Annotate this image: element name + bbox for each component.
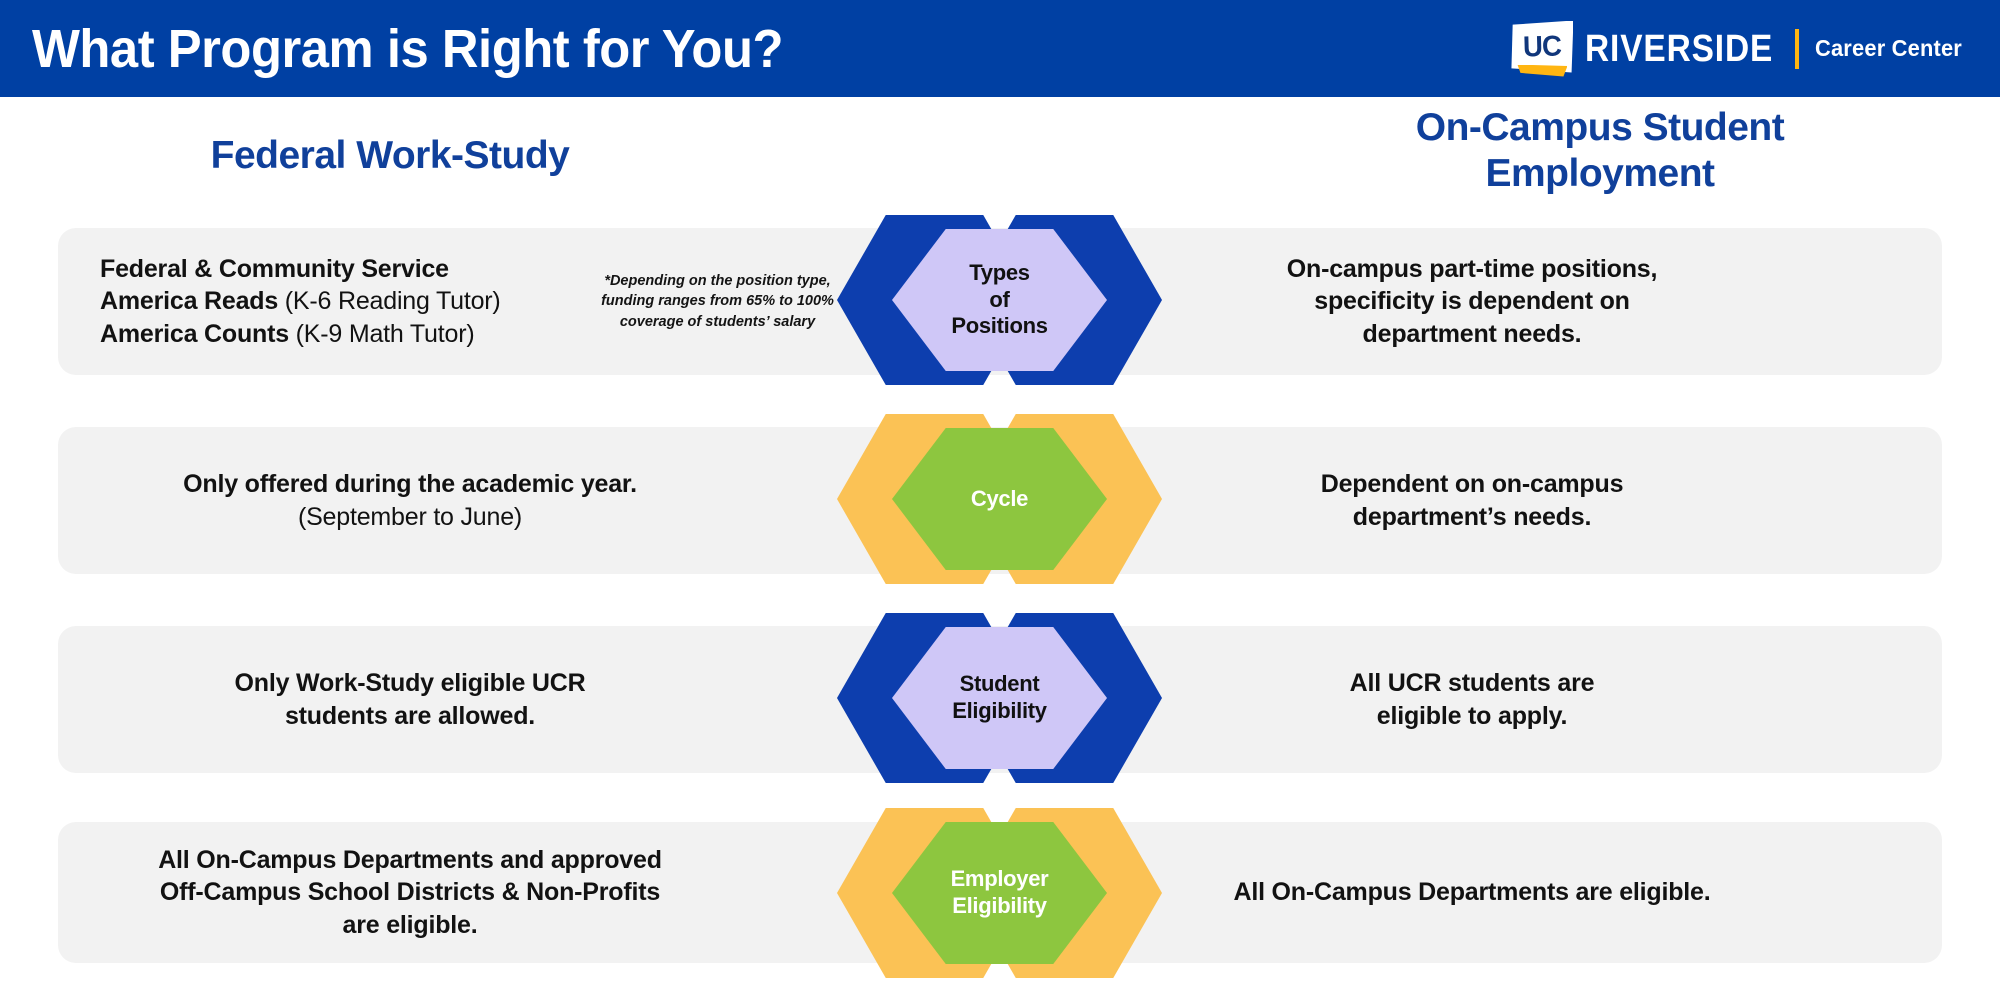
cell-text-line: department’s needs.	[1353, 501, 1591, 534]
badge-label: Cycle	[892, 428, 1107, 570]
right-heading-line-2: Employment	[1240, 151, 1960, 197]
cell-text-line: students are allowed.	[285, 700, 535, 733]
cell-text-line: Dependent on on-campus	[1321, 468, 1624, 501]
cell-text-line: America Counts (K-9 Math Tutor)	[100, 318, 474, 351]
uc-logo-text: UC	[1512, 20, 1572, 74]
badge-label-line: Types	[969, 260, 1029, 287]
footnote-line-3: coverage of students’ salary	[620, 312, 815, 333]
cell-text-line: Only Work-Study eligible UCR	[235, 667, 586, 700]
badge-label-line: Eligibility	[952, 698, 1047, 725]
page-header: What Program is Right for You? UC RIVERS…	[0, 0, 2000, 97]
page-title: What Program is Right for You?	[0, 22, 783, 76]
badge-label: StudentEligibility	[892, 627, 1107, 769]
cell-right-row-1: On-campus part-time positions,specificit…	[1080, 228, 1864, 375]
cell-text-line: Only offered during the academic year.	[183, 468, 637, 501]
category-badge-hexagon: StudentEligibility	[837, 613, 1162, 783]
cell-text-line: (September to June)	[298, 501, 522, 534]
badge-label: EmployerEligibility	[892, 822, 1107, 964]
riverside-wordmark: RIVERSIDE	[1585, 30, 1773, 68]
badge-label-line: Eligibility	[952, 893, 1047, 920]
funding-footnote: *Depending on the position type, funding…	[580, 228, 855, 375]
badge-label-line: Cycle	[971, 486, 1028, 513]
cell-text-line: All UCR students are	[1350, 667, 1595, 700]
cell-right-row-4: All On-Campus Departments are eligible.	[1080, 822, 1864, 963]
right-heading-line-1: On-Campus Student	[1240, 105, 1960, 151]
category-badge-hexagon: TypesofPositions	[837, 215, 1162, 385]
column-heading-federal-work-study: Federal Work-Study	[150, 133, 630, 179]
badge-label-line: of	[989, 287, 1009, 314]
badge-label-line: Employer	[951, 866, 1049, 893]
cell-left-row-3: Only Work-Study eligible UCRstudents are…	[20, 626, 800, 773]
cell-left-row-2: Only offered during the academic year.(S…	[20, 427, 800, 574]
cell-left-row-4: All On-Campus Departments and approvedOf…	[20, 822, 800, 963]
badge-label-line: Student	[960, 671, 1040, 698]
cell-right-row-3: All UCR students areeligible to apply.	[1080, 626, 1864, 773]
cell-right-row-2: Dependent on on-campusdepartment’s needs…	[1080, 427, 1864, 574]
cell-text-line: specificity is dependent on	[1314, 285, 1630, 318]
category-badge-hexagon: EmployerEligibility	[837, 808, 1162, 978]
ucr-career-center-logo: UC RIVERSIDE Career Center	[1511, 21, 2000, 77]
badge-label: TypesofPositions	[892, 229, 1107, 371]
uc-shield-icon: UC	[1511, 21, 1573, 77]
cell-text-line: eligible to apply.	[1377, 700, 1567, 733]
cell-text-line: are eligible.	[343, 909, 478, 942]
cell-text-line: Off-Campus School Districts & Non-Profit…	[160, 876, 660, 909]
cell-text-line: All On-Campus Departments are eligible.	[1233, 876, 1710, 909]
footnote-line-2: funding ranges from 65% to 100%	[601, 291, 834, 312]
column-heading-on-campus-student-employment: On-Campus Student Employment	[1240, 105, 1960, 197]
logo-divider	[1795, 29, 1799, 69]
cell-text-line: Federal & Community Service	[100, 253, 449, 286]
cell-text-line: All On-Campus Departments and approved	[158, 844, 662, 877]
cell-text-line: America Reads (K-6 Reading Tutor)	[100, 285, 501, 318]
cell-text-line: department needs.	[1363, 318, 1582, 351]
cell-text-line: On-campus part-time positions,	[1287, 253, 1657, 286]
career-center-label: Career Center	[1815, 37, 1962, 60]
category-badge-hexagon: Cycle	[837, 414, 1162, 584]
badge-label-line: Positions	[951, 313, 1047, 340]
footnote-line-1: *Depending on the position type,	[604, 271, 830, 292]
